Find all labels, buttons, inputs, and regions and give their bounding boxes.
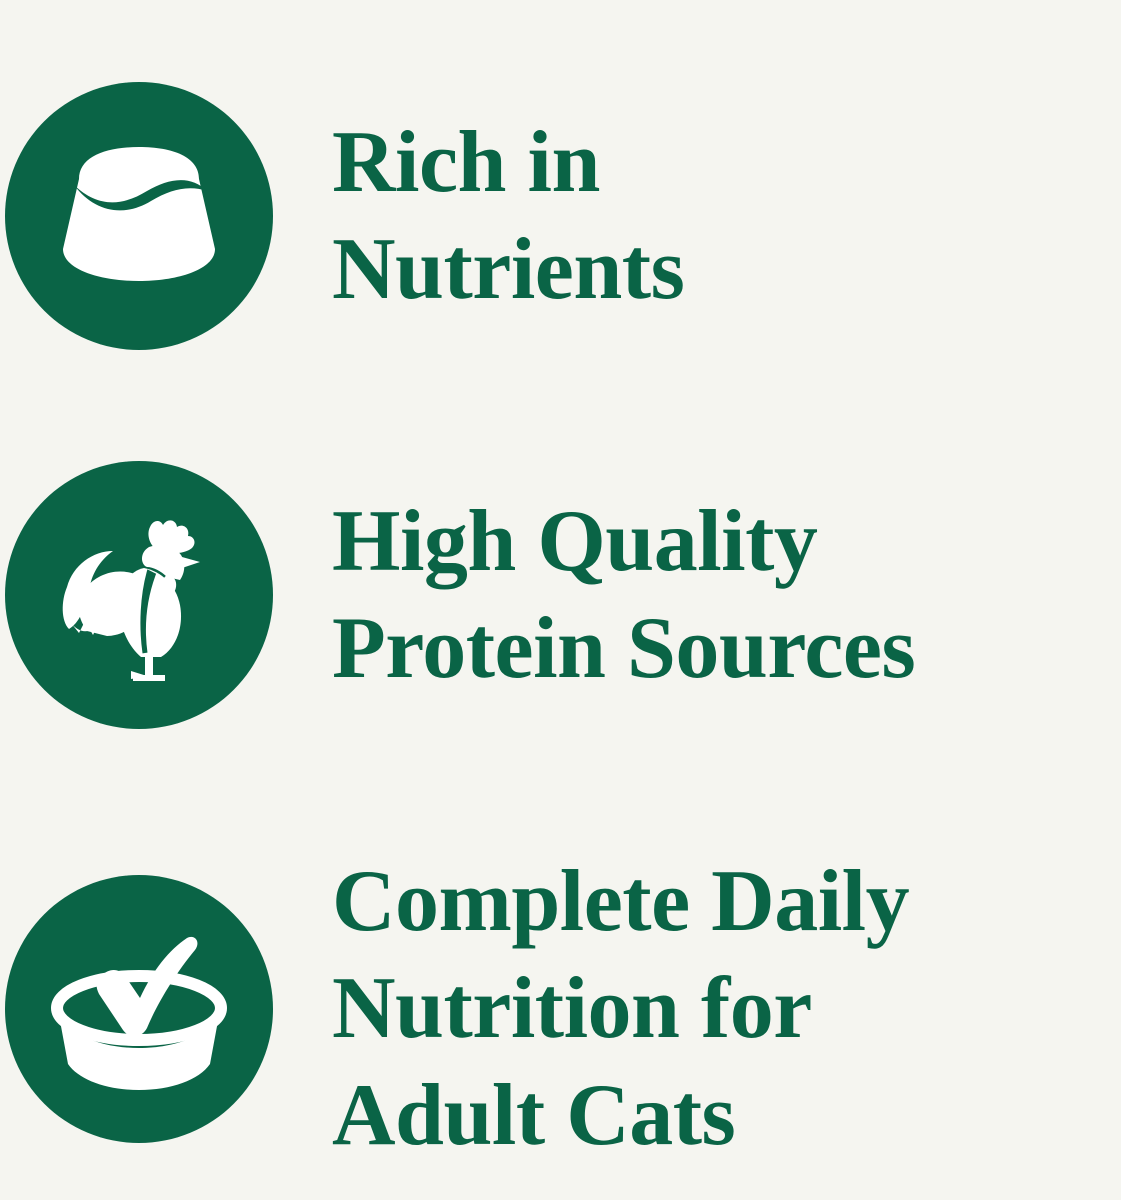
benefit-label: High Quality Protein Sources [332, 488, 915, 702]
rooster-icon [5, 461, 273, 729]
benefit-label: Complete Daily Nutrition for Adult Cats [332, 848, 909, 1169]
benefit-item: High Quality Protein Sources [5, 461, 915, 729]
product-benefits-list: Rich in Nutrients [0, 0, 1121, 1200]
benefit-label: Rich in Nutrients [332, 109, 684, 323]
food-bowl-filled-icon [5, 82, 273, 350]
benefit-item: Complete Daily Nutrition for Adult Cats [5, 848, 909, 1169]
bowl-checkmark-icon [5, 875, 273, 1143]
benefit-item: Rich in Nutrients [5, 82, 684, 350]
